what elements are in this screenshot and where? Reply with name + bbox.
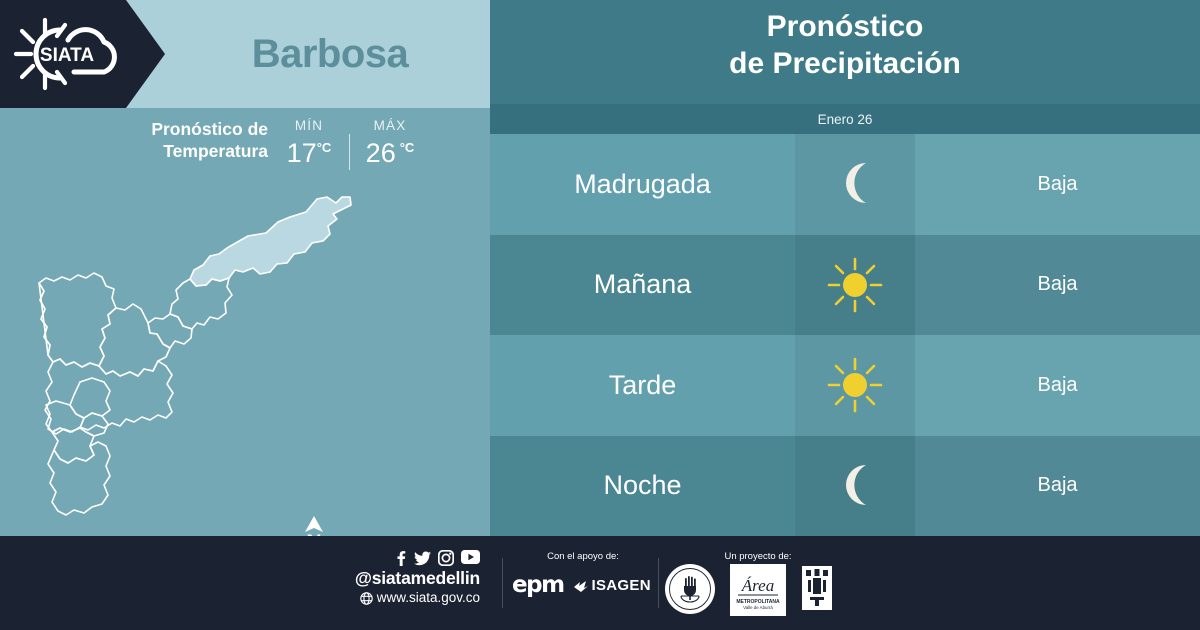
alcaldia-de-medellin-crest-icon: [802, 566, 832, 610]
svg-text:Valle de Aburrá: Valle de Aburrá: [743, 605, 773, 610]
area-metropolitana-logo: Área METROPOLITANA Valle de Aburrá: [730, 564, 786, 616]
youtube-icon[interactable]: [461, 550, 480, 564]
table-row: Tarde: [490, 335, 1200, 436]
period-label: Mañana: [594, 269, 692, 300]
temperature-panel: Barbosa SIATA Pronóstico de: [0, 0, 490, 536]
min-unit: °C: [317, 140, 332, 155]
table-row: Mañana: [490, 235, 1200, 336]
map-region-caldas: [48, 442, 110, 515]
map-region-northwest: [39, 273, 116, 367]
isagen-logo: ISAGEN: [592, 577, 651, 594]
precipitation-title-line2: de Precipitación: [490, 45, 1200, 82]
period-cell: Tarde: [490, 335, 795, 436]
probability-label: Baja: [1037, 474, 1077, 497]
temperature-title-line1: Pronóstico de: [88, 118, 268, 140]
facebook-icon[interactable]: [394, 550, 407, 566]
max-value: 26: [366, 138, 396, 168]
logo-wordmark: SIATA: [40, 45, 94, 66]
svg-text:Área: Área: [741, 576, 774, 595]
temperature-divider: [349, 134, 350, 170]
min-value-group: 17°C: [287, 134, 332, 167]
page-title: Barbosa: [170, 0, 490, 108]
map-region-medellin: [39, 283, 173, 434]
probability-cell: Baja: [915, 436, 1200, 537]
table-row: Noche Baja: [490, 436, 1200, 537]
probability-cell: Baja: [915, 134, 1200, 235]
epm-logo: epm: [512, 572, 564, 598]
weather-forecast-card: Barbosa SIATA Pronóstico de: [0, 0, 1200, 630]
period-cell: Madrugada: [490, 134, 795, 235]
universidad-de-medellin-seal: [664, 563, 716, 615]
website-row[interactable]: www.siata.gov.co: [330, 589, 480, 607]
probability-label: Baja: [1037, 173, 1077, 196]
period-cell: Mañana: [490, 235, 795, 336]
condition-cell: [795, 335, 915, 436]
forecast-date-band: Enero 26: [490, 104, 1200, 134]
min-value: 17: [287, 138, 317, 168]
municipalities-map-svg: [20, 186, 380, 536]
footer-divider-1: [502, 558, 503, 608]
social-block: @siatamedellin www.siata.gov.co: [330, 550, 480, 607]
footer-divider-2: [658, 558, 659, 608]
precipitation-title-line1: Pronóstico: [490, 8, 1200, 45]
forecast-date: Enero 26: [818, 112, 873, 127]
social-handle[interactable]: @siatamedellin: [330, 568, 480, 589]
probability-cell: Baja: [915, 335, 1200, 436]
period-label: Madrugada: [574, 169, 711, 200]
probability-label: Baja: [1037, 273, 1077, 296]
twitter-icon[interactable]: [414, 550, 431, 566]
probability-label: Baja: [1037, 374, 1077, 397]
max-unit: °C: [400, 140, 415, 155]
isagen-mark-icon: [573, 578, 589, 593]
project-label: Un proyecto de:: [658, 551, 858, 562]
aburra-valley-map: N: [20, 186, 380, 536]
temperature-title: Pronóstico de Temperatura: [88, 118, 268, 162]
max-value-group: 26°C: [366, 134, 415, 167]
map-region-envigado: [70, 378, 110, 418]
temperature-values: MÍN 17°C MÁX 26°C: [278, 118, 421, 170]
map-region-sabaneta: [80, 413, 108, 436]
footer: @siatamedellin www.siata.gov.co Con el a…: [0, 536, 1200, 630]
period-label: Noche: [603, 470, 681, 501]
condition-cell: [795, 235, 915, 336]
condition-cell: [795, 436, 915, 537]
globe-icon: [360, 592, 373, 605]
table-row: Madrugada Baja: [490, 134, 1200, 235]
period-label: Tarde: [609, 370, 677, 401]
sun-icon: [826, 356, 884, 414]
sun-cloud-icon: SIATA: [12, 14, 132, 94]
website-url[interactable]: www.siata.gov.co: [377, 589, 480, 607]
min-temperature: MÍN 17°C: [278, 118, 340, 167]
map-region-bello: [99, 304, 170, 376]
forecast-rows: Madrugada Baja Mañana: [490, 134, 1200, 536]
map-region-copacabana: [148, 314, 192, 348]
moon-icon: [828, 459, 882, 513]
support-label: Con el apoyo de:: [503, 551, 663, 562]
max-temperature: MÁX 26°C: [359, 118, 421, 167]
min-label: MÍN: [295, 118, 323, 133]
condition-cell: [795, 134, 915, 235]
precipitation-panel: Pronóstico de Precipitación Enero 26 Mad…: [490, 0, 1200, 536]
probability-cell: Baja: [915, 235, 1200, 336]
map-region-girardota: [170, 278, 232, 329]
map-region-barbosa: [190, 197, 351, 286]
support-logos: epm ISAGEN: [512, 572, 651, 598]
max-label: MÁX: [374, 118, 407, 133]
instagram-icon[interactable]: [438, 550, 454, 566]
precipitation-title: Pronóstico de Precipitación: [490, 8, 1200, 82]
temperature-title-line2: Temperatura: [88, 140, 268, 162]
period-cell: Noche: [490, 436, 795, 537]
temperature-summary: Pronóstico de Temperatura MÍN 17°C MÁX 2…: [0, 118, 490, 188]
social-icons: [330, 550, 480, 566]
sun-icon: [826, 256, 884, 314]
moon-icon: [828, 157, 882, 211]
